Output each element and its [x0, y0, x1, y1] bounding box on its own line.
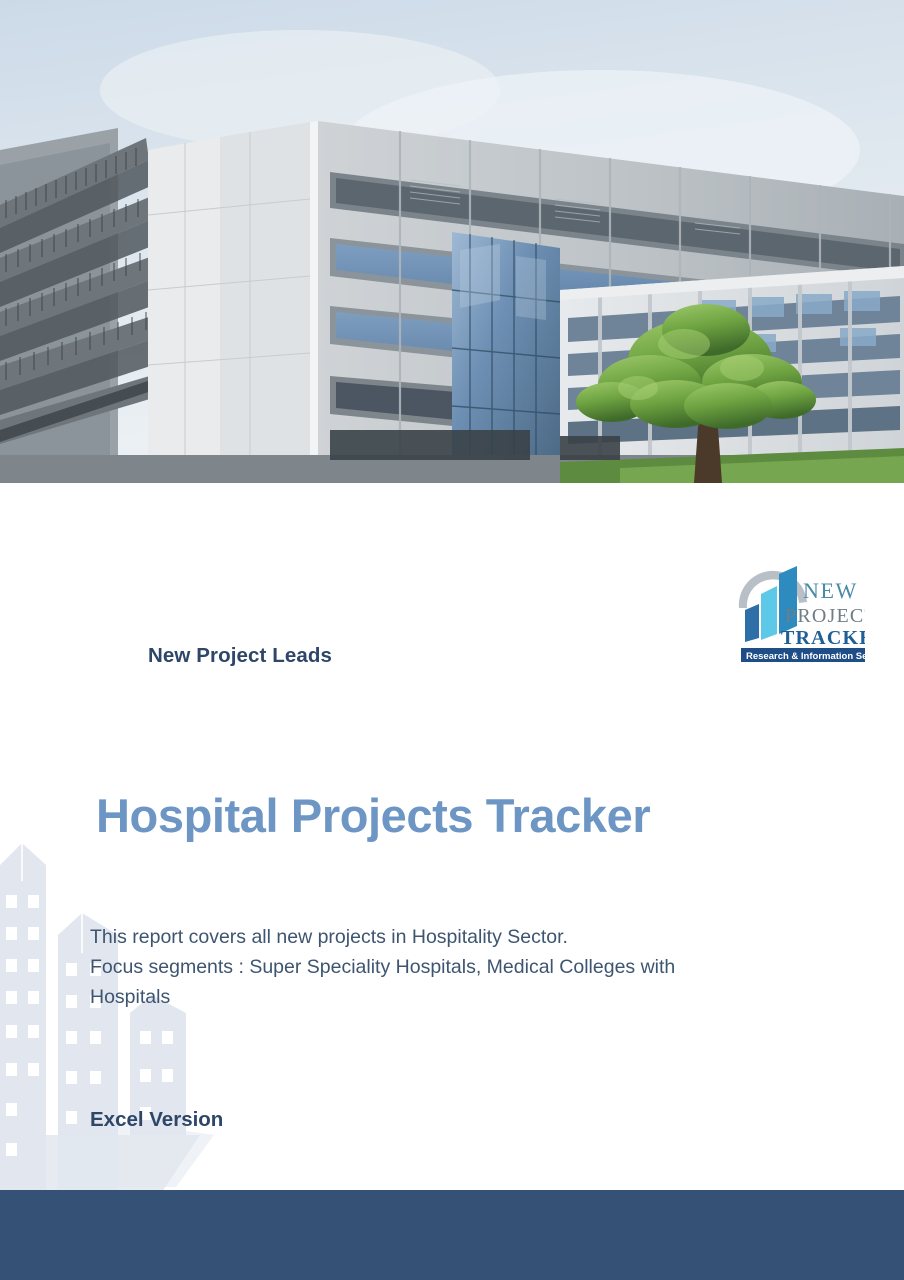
logo-line-1: NEW	[803, 578, 858, 603]
description-line-2: Focus segments : Super Speciality Hospit…	[90, 952, 790, 982]
logo-line-2: PROJECTS	[785, 605, 865, 627]
report-cover-page: NEW PROJECTS TRACKER Research & Informat…	[0, 0, 904, 1280]
logo-line-3: TRACKER	[781, 627, 865, 649]
kicker-label: New Project Leads	[148, 644, 332, 668]
page-title: Hospital Projects Tracker	[96, 788, 650, 843]
city-skyline-watermark	[0, 835, 260, 1195]
new-projects-tracker-logo: NEW PROJECTS TRACKER Research & Informat…	[733, 546, 865, 664]
description-line-1: This report covers all new projects in H…	[90, 922, 790, 952]
version-label: Excel Version	[90, 1108, 223, 1132]
logo-tagline: Research & Information Services	[746, 651, 865, 662]
hospital-building-photo	[0, 0, 904, 483]
footer-bar	[0, 1190, 904, 1280]
report-description: This report covers all new projects in H…	[90, 922, 790, 1012]
description-line-3: Hospitals	[90, 982, 790, 1012]
